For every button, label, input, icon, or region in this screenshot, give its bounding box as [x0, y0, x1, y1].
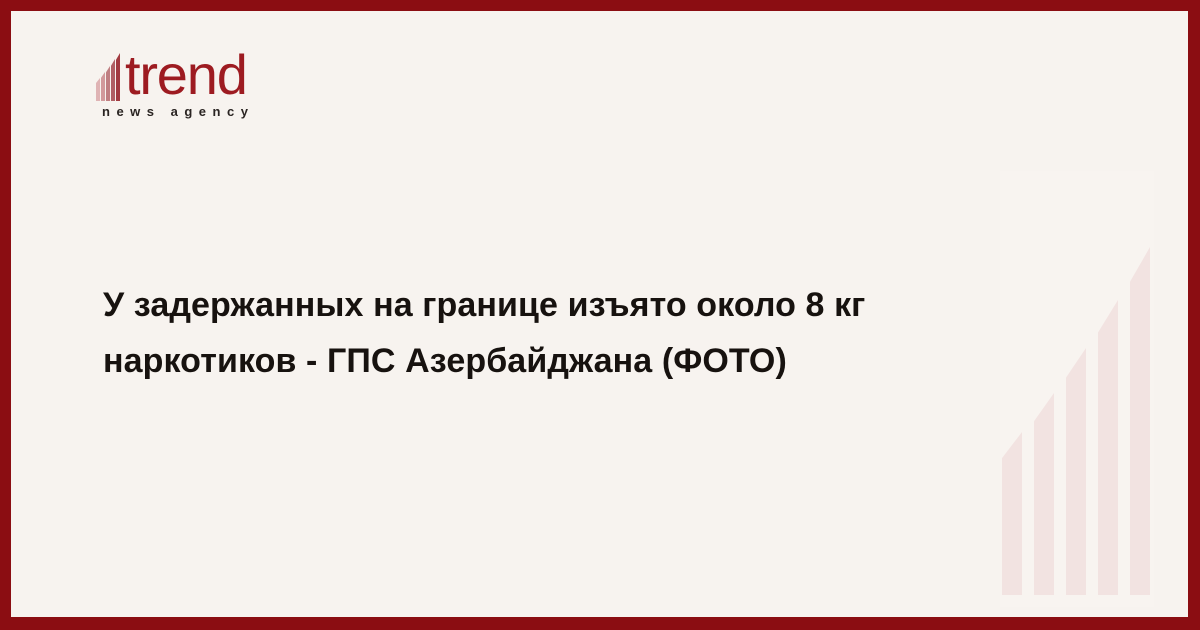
decoration-plate	[1000, 171, 1154, 607]
logo-bar-4	[111, 59, 115, 101]
headline-line-1: У задержанных на границе изъято около 8 …	[103, 277, 1003, 333]
decoration-bar-3	[1066, 348, 1086, 595]
trend-ascending-bars-mark-icon	[96, 49, 126, 101]
logo-bar-1	[96, 78, 100, 101]
logo-row: trend	[96, 43, 456, 101]
decoration-bar-5	[1130, 247, 1150, 595]
logo-tagline: news agency	[102, 104, 456, 119]
logo-wordmark: trend	[125, 49, 247, 101]
headline-line-2: наркотиков - ГПС Азербайджана (ФОТО)	[103, 333, 1003, 389]
trend-logo[interactable]: trend news agency	[96, 43, 456, 119]
decoration-bar-2	[1034, 393, 1054, 595]
decoration-bar-4	[1098, 300, 1118, 595]
ascending-bars-graphic	[990, 11, 1170, 617]
headline: У задержанных на границе изъято около 8 …	[103, 277, 1003, 389]
logo-bar-3	[106, 66, 110, 101]
logo-bar-5	[116, 53, 120, 101]
logo-bar-2	[101, 72, 105, 101]
card-canvas: trend news agency У задержанных на грани…	[11, 11, 1188, 617]
decoration-bar-1	[1002, 432, 1022, 595]
social-share-card: trend news agency У задержанных на грани…	[0, 0, 1200, 630]
